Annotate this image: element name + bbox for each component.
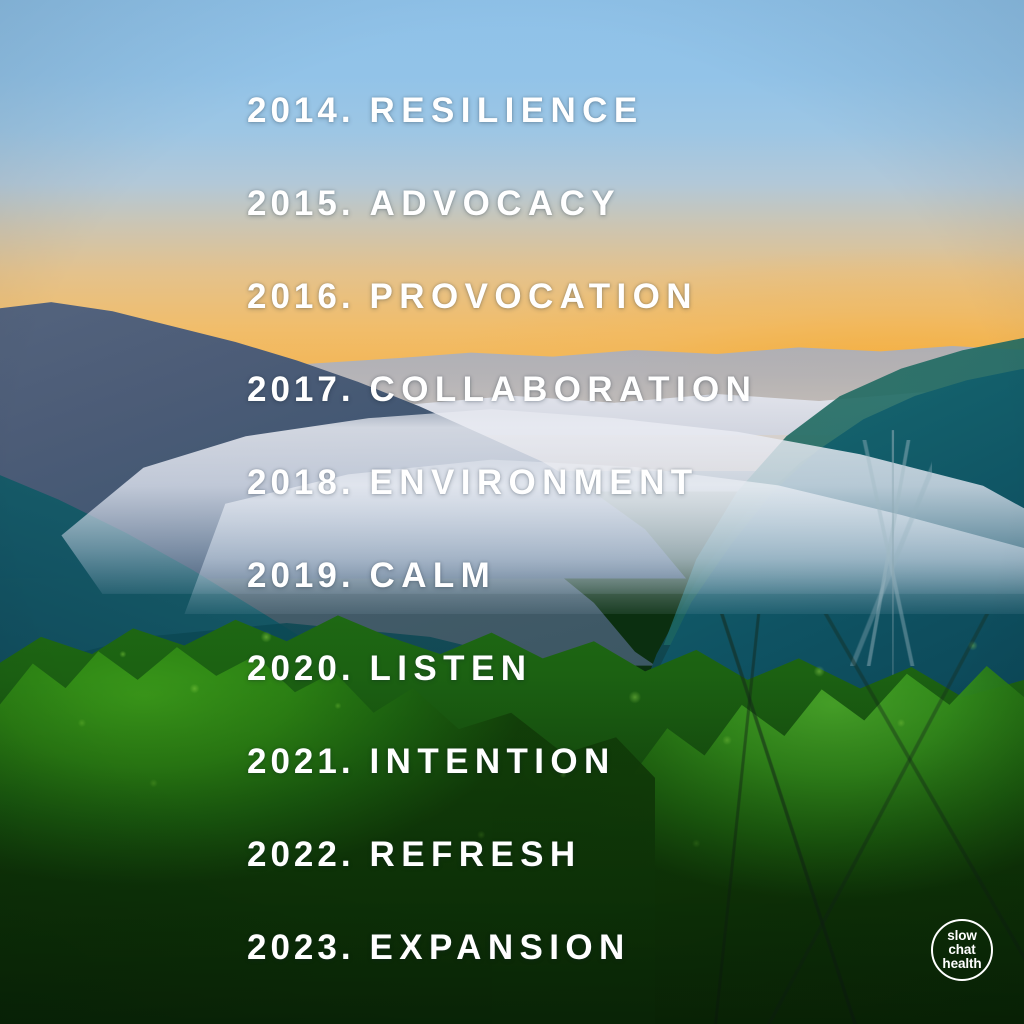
theme-year: 2022. xyxy=(247,835,355,874)
logo-line-chat: chat xyxy=(926,943,998,957)
theme-word: INTENTION xyxy=(370,742,616,781)
theme-word: COLLABORATION xyxy=(370,370,758,409)
theme-word: REFRESH xyxy=(370,835,582,874)
theme-list-item: 2015. ADVOCACY xyxy=(247,157,1007,250)
brand-logo[interactable]: slow chat health xyxy=(931,919,993,981)
theme-year: 2015. xyxy=(247,184,355,223)
theme-list-item: 2022. REFRESH xyxy=(247,808,1007,901)
theme-list-item: 2020. LISTEN xyxy=(247,622,1007,715)
theme-year: 2020. xyxy=(247,649,355,688)
theme-year: 2017. xyxy=(247,370,355,409)
theme-list-item: 2016. PROVOCATION xyxy=(247,250,1007,343)
theme-year: 2018. xyxy=(247,463,355,502)
logo-line-slow: slow xyxy=(926,929,998,943)
theme-year: 2019. xyxy=(247,556,355,595)
theme-word: CALM xyxy=(370,556,497,595)
theme-list-item: 2018. ENVIRONMENT xyxy=(247,436,1007,529)
theme-list-item: 2019. CALM xyxy=(247,529,1007,622)
theme-list: 2014. RESILIENCE 2015. ADVOCACY 2016. PR… xyxy=(247,64,1007,994)
theme-list-item: 2021. INTENTION xyxy=(247,715,1007,808)
theme-word: LISTEN xyxy=(370,649,533,688)
theme-year: 2016. xyxy=(247,277,355,316)
logo-line-health: health xyxy=(926,957,998,971)
theme-word: RESILIENCE xyxy=(370,91,644,130)
poster-canvas: 2014. RESILIENCE 2015. ADVOCACY 2016. PR… xyxy=(0,0,1024,1024)
theme-list-item: 2014. RESILIENCE xyxy=(247,64,1007,157)
logo-wordmark: slow chat health xyxy=(926,929,998,972)
theme-word: EXPANSION xyxy=(370,928,631,967)
theme-word: ADVOCACY xyxy=(370,184,622,223)
theme-list-item: 2023. EXPANSION xyxy=(247,901,1007,994)
theme-list-item: 2017. COLLABORATION xyxy=(247,343,1007,436)
theme-word: ENVIRONMENT xyxy=(370,463,699,502)
theme-word: PROVOCATION xyxy=(370,277,698,316)
theme-year: 2014. xyxy=(247,91,355,130)
theme-year: 2023. xyxy=(247,928,355,967)
theme-year: 2021. xyxy=(247,742,355,781)
